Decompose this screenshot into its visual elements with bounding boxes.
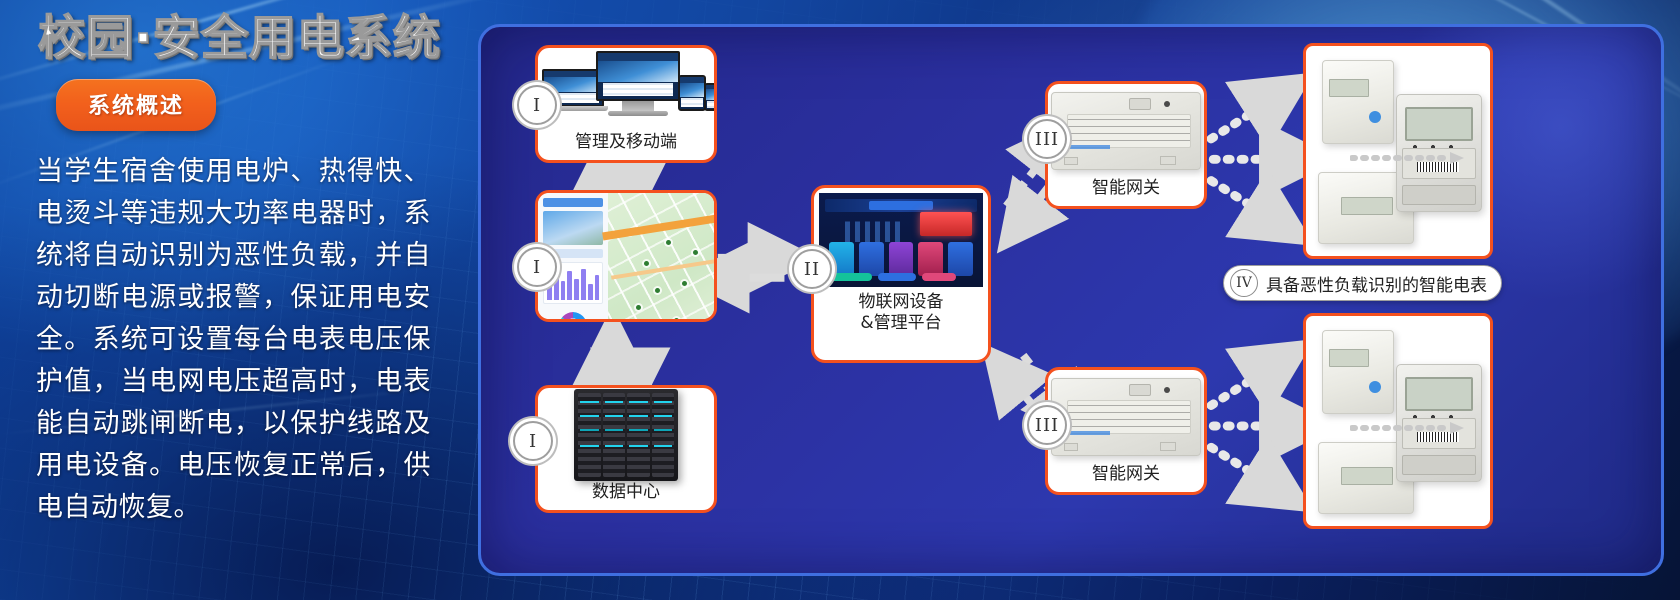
node-numeral-badge-III-gateway-bottom: III [1027,405,1067,445]
smart-meters-icon [1306,316,1490,526]
devices-icon [538,48,714,132]
dashboard-map-icon [538,193,714,322]
overview-paragraph: 当学生宿舍使用电炉、热得快、电烫斗等违规大功率电器时，系统将自动识别为恶性负载，… [36,151,431,529]
iot-dashboard-icon [814,188,988,292]
node-gateway-bottom[interactable]: 智能网关 [1045,367,1207,495]
arrow-gateway-bottom-meters [1199,363,1295,488]
server-rack-icon [538,388,714,482]
node-admin-mobile[interactable]: 管理及移动端 [535,45,717,163]
smart-meter-label-text: 具备恶性负载识别的智能电表 [1266,271,1487,296]
arrow-gateway-top-meters [1199,97,1295,222]
section-badge: 系统概述 [56,79,216,131]
node-data-center[interactable]: 数据中心 [535,385,717,513]
arrow-campus-iot [718,258,785,278]
node-label: 管理及移动端 [538,132,714,160]
node-label: 智能网关 [1048,464,1204,492]
node-gateway-top[interactable]: 智能网关 [1045,81,1207,209]
architecture-diagram-panel: 管理及移动端 I [478,24,1664,576]
page-title: 校园·安全用电系统 [36,14,442,65]
node-label: 智能网关 [1048,178,1204,206]
meter-group-bottom[interactable] [1303,313,1493,529]
node-numeral-badge-I-admin: I [517,85,557,125]
gateway-device-icon [1048,370,1204,464]
node-numeral-badge-I-campus: I [517,247,557,287]
meter-internal-arrow [1350,420,1470,436]
intro-panel: 校园·安全用电系统 系统概述 当学生宿舍使用电炉、热得快、电烫斗等违规大功率电器… [0,0,470,600]
smart-meter-label-pill: IV 具备恶性负载识别的智能电表 [1223,265,1502,301]
node-numeral-badge-I-datacenter: I [513,421,553,461]
node-label-line2: &管理平台 [814,313,988,341]
arrow-campus-datacenter [612,350,630,383]
node-campus-platform[interactable]: 智慧校园平台 [535,190,717,322]
node-numeral-badge-III-gateway-top: III [1027,119,1067,159]
gateway-device-icon [1048,84,1204,178]
meter-internal-arrow [1350,150,1470,166]
din-rail-single-phase-meter [1322,60,1394,144]
node-iot-platform[interactable]: 物联网设备 &管理平台 [811,185,991,363]
node-numeral-badge-II-iot: II [792,249,832,289]
numeral-badge-IV: IV [1230,269,1258,297]
node-label-line1: 物联网设备 [814,292,988,313]
meter-group-top[interactable] [1303,43,1493,259]
node-label: 数据中心 [538,482,714,510]
din-rail-single-phase-meter [1322,330,1394,414]
smart-meters-icon [1306,46,1490,256]
